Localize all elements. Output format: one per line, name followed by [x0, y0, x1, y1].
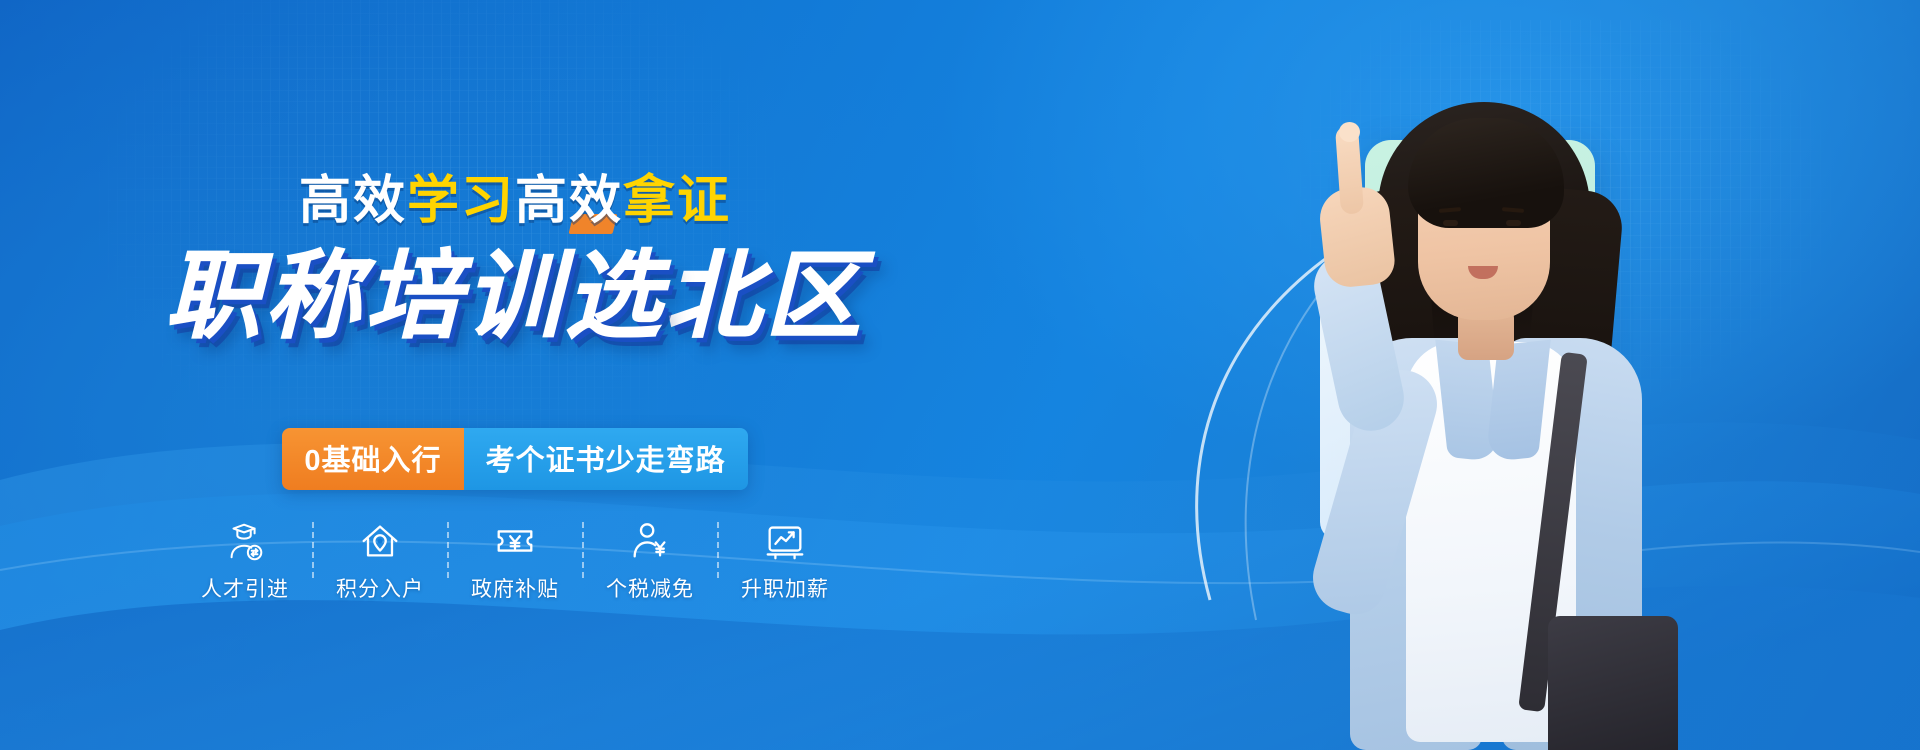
growth-chart-icon	[762, 518, 808, 564]
tagline-badge: 0基础入行	[282, 428, 463, 490]
feature-label: 人才引进	[201, 573, 289, 603]
feature-item-jifenruhu[interactable]: 积分入户	[314, 518, 447, 603]
feature-label: 政府补贴	[471, 573, 559, 603]
feature-item-geshuijianmian[interactable]: 个税减免	[584, 518, 717, 603]
feature-item-rencaiyinjin[interactable]: 人才引进	[179, 518, 312, 603]
main-title-accent-char: 选	[565, 243, 665, 350]
presenter-figure-zone	[1020, 0, 1920, 750]
tagline-pill: 0基础入行 考个证书少走弯路	[282, 428, 747, 490]
graduate-person-icon	[222, 518, 268, 564]
yuan-ticket-icon	[492, 518, 538, 564]
feature-item-shengzhijiaxin[interactable]: 升职加薪	[719, 518, 852, 603]
main-title-accent-wrap: 选	[565, 218, 665, 357]
feature-label: 升职加薪	[741, 573, 829, 603]
tagline-row: 0基础入行 考个证书少走弯路	[0, 428, 1030, 490]
feature-label: 个税减免	[606, 573, 694, 603]
feature-item-zhengfubutie[interactable]: 政府补贴	[449, 518, 582, 603]
main-title-after: 北区	[665, 243, 865, 350]
tagline-text: 考个证书少走弯路	[464, 428, 748, 490]
person-yuan-icon	[627, 518, 673, 564]
banner-content: 高效学习高效拿证 职称培训选北区 0基础入行 考个证书少走弯路	[0, 0, 1030, 750]
main-title: 职称培训选北区	[0, 218, 1030, 357]
house-pin-icon	[357, 518, 403, 564]
feature-list: 人才引进 积分入户 政府补贴	[0, 518, 1030, 603]
presenter-illustration	[1210, 70, 1730, 750]
feature-label: 积分入户	[336, 573, 424, 603]
main-title-before: 职称培训	[165, 243, 565, 350]
promotional-banner: 高效学习高效拿证 职称培训选北区 0基础入行 考个证书少走弯路	[0, 0, 1920, 750]
